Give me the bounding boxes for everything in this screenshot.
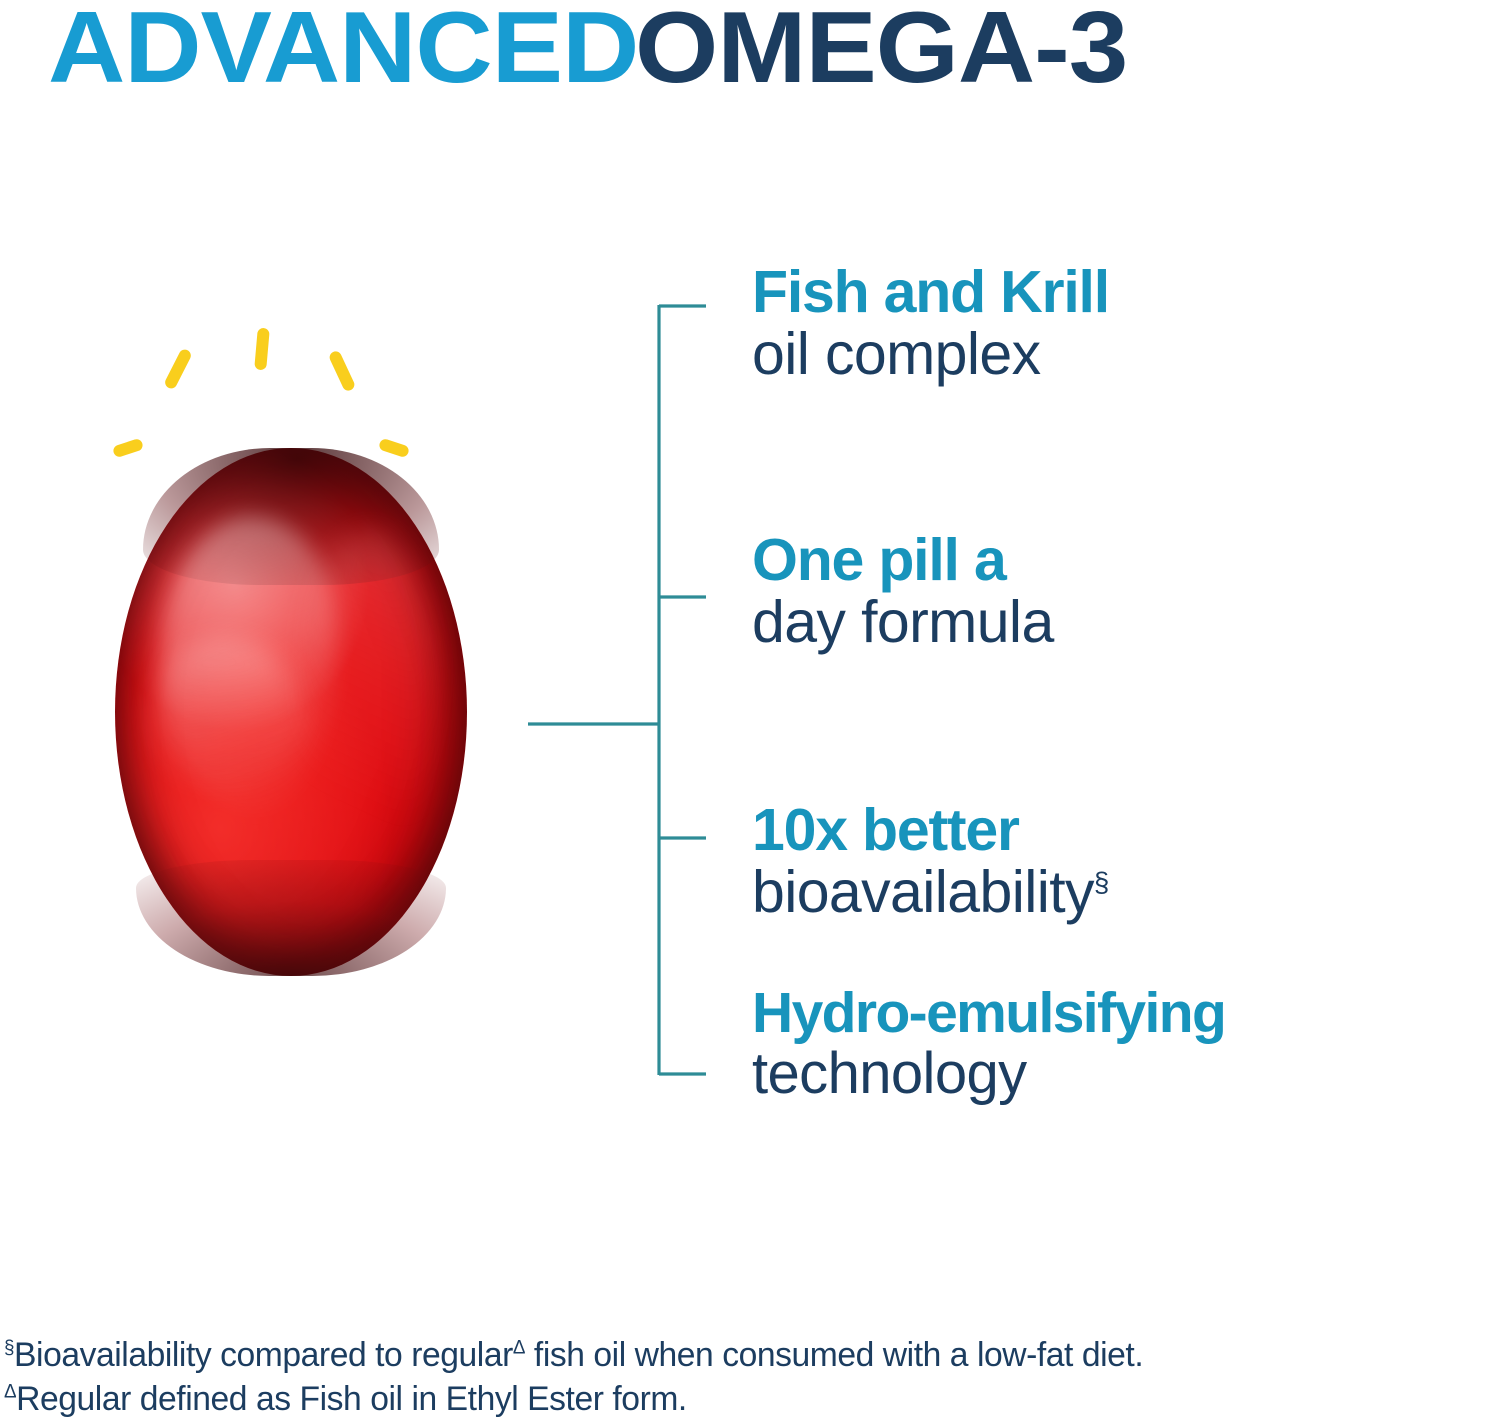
- feature-subtext-text: bioavailability: [752, 859, 1094, 925]
- feature-subtext: oil complex: [752, 323, 1109, 387]
- softgel-capsule: [115, 448, 467, 976]
- feature-headline: Hydro-emulsifying: [752, 984, 1225, 1043]
- footnote-marker-section: §: [4, 1338, 14, 1359]
- feature-headline: Fish and Krill: [752, 262, 1109, 323]
- feature-item-1: Fish and Krill oil complex: [752, 262, 1109, 386]
- feature-subtext: bioavailability§: [752, 861, 1109, 925]
- feature-headline: One pill a: [752, 530, 1054, 591]
- footnote-text-pre: Bioavailability compared to regular: [14, 1336, 513, 1374]
- capsule-bottom-shadow: [136, 860, 446, 976]
- footnote-marker-section: §: [1094, 866, 1109, 897]
- feature-item-3: 10x better bioavailability§: [752, 800, 1109, 924]
- title-word-advanced: ADVANCED: [48, 0, 638, 99]
- feature-headline: 10x better: [752, 800, 1109, 861]
- feature-subtext: day formula: [752, 591, 1054, 655]
- footnote-text-post: fish oil when consumed with a low-fat di…: [525, 1336, 1143, 1374]
- title-word-omega: OMEGA-3: [635, 0, 1127, 99]
- sparkle-icon-4: [112, 438, 144, 459]
- footnotes: §Bioavailability compared to regularΔ fi…: [4, 1334, 1500, 1422]
- footnote-line-2: ΔRegular defined as Fish oil in Ethyl Es…: [4, 1378, 1463, 1422]
- footnote-text-pre: Regular defined as Fish oil in Ethyl Est…: [16, 1380, 687, 1418]
- sparkle-icon-5: [378, 438, 410, 459]
- feature-item-4: Hydro-emulsifying technology: [752, 984, 1225, 1105]
- footnote-line-1: §Bioavailability compared to regularΔ fi…: [4, 1334, 1463, 1378]
- footnote-marker-delta: Δ: [513, 1338, 525, 1359]
- sparkle-icon-1: [163, 348, 193, 391]
- feature-subtext: technology: [752, 1043, 1225, 1106]
- page-title: ADVANCED OMEGA-3: [48, 0, 1468, 102]
- capsule-rim-light: [298, 532, 439, 859]
- sparkle-icon-2: [254, 328, 270, 371]
- sparkle-icon-3: [328, 349, 357, 392]
- capsule-highlight-band: [150, 638, 305, 796]
- feature-item-2: One pill a day formula: [752, 530, 1054, 654]
- footnote-marker-delta: Δ: [4, 1381, 16, 1402]
- product-image: [60, 300, 520, 1020]
